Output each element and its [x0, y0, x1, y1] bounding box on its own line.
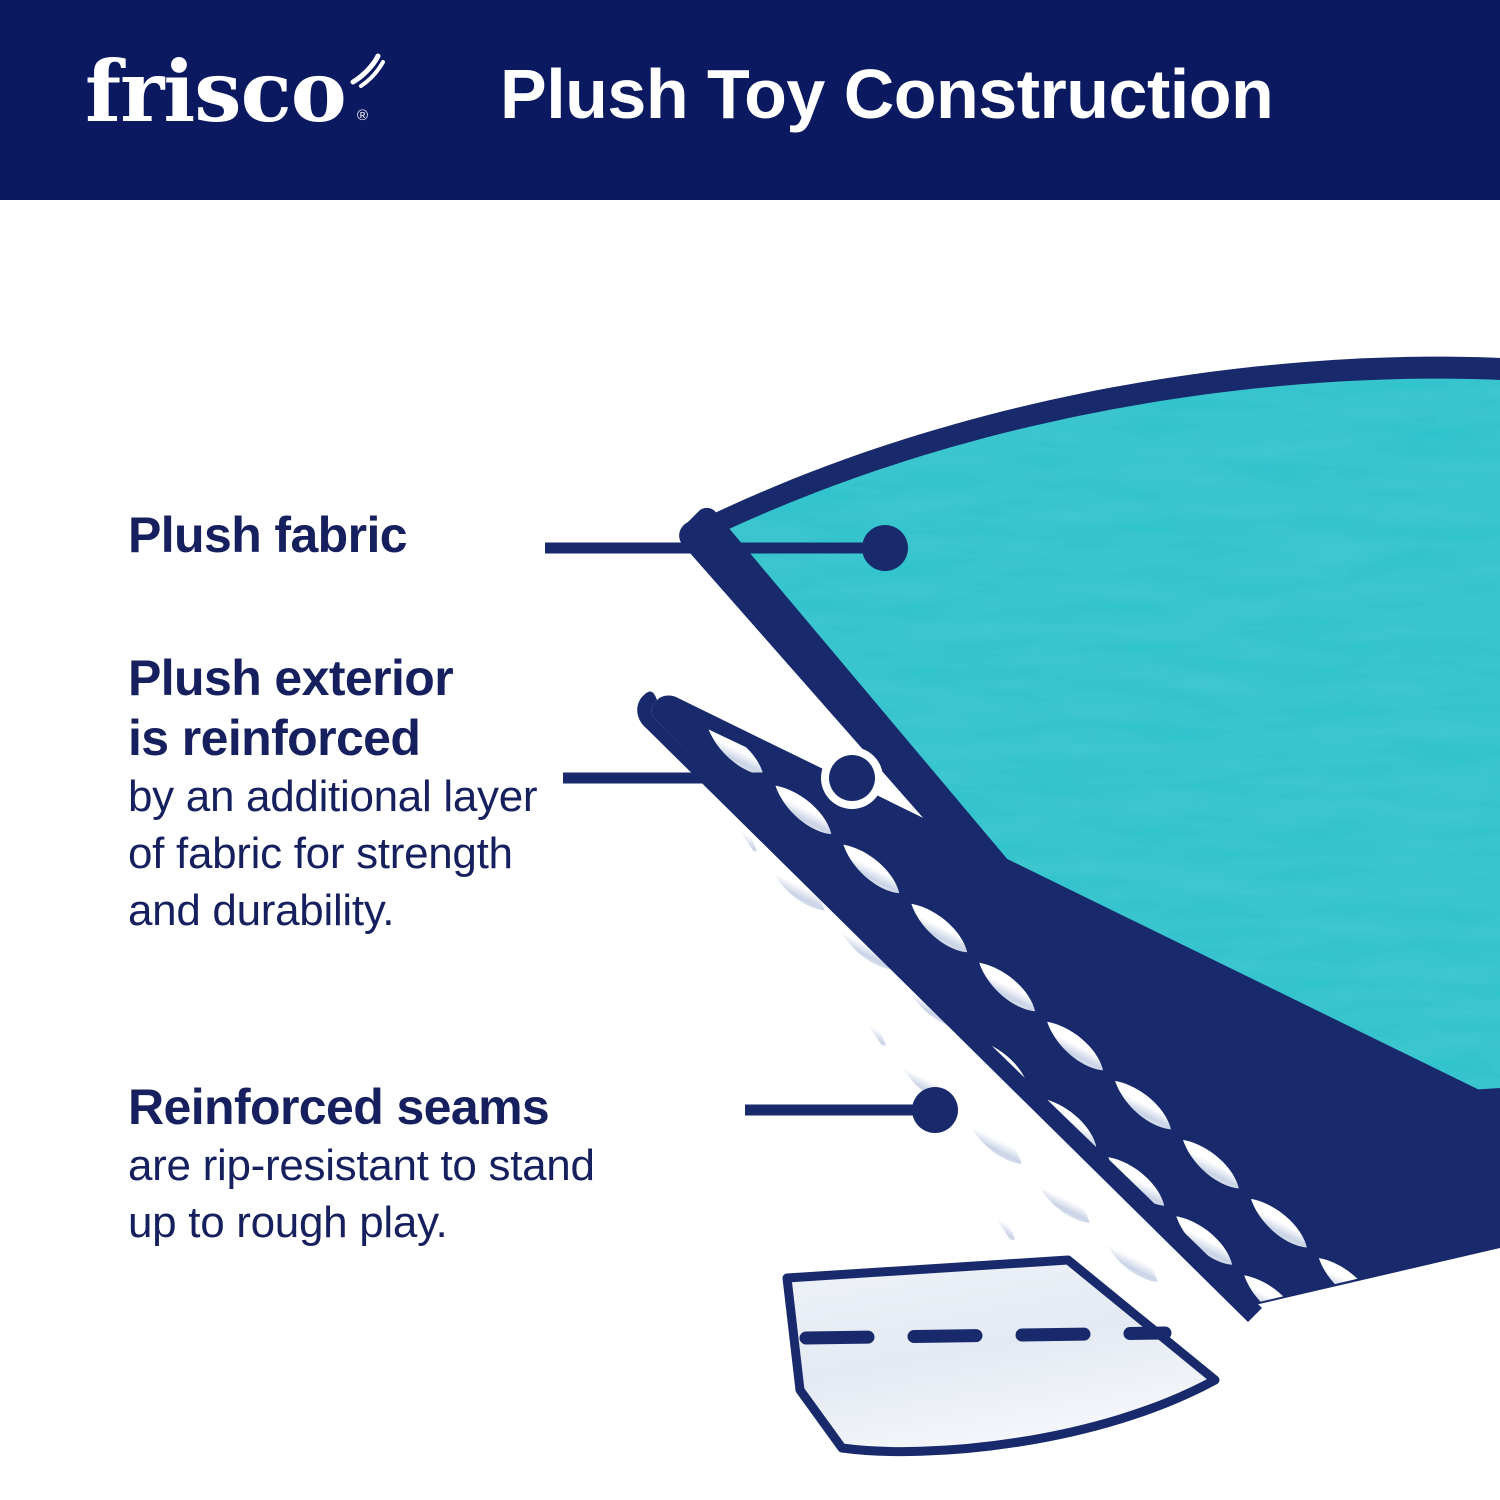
leader-dot-reinforced-seams	[912, 1087, 958, 1133]
logo-swash-icon	[347, 52, 387, 92]
leader-dot-plush-exterior	[829, 755, 875, 801]
callout-reinforced-seams-body: are rip-resistant to stand up to rough p…	[128, 1137, 808, 1251]
reinforced-seam-flap	[787, 1260, 1215, 1452]
callout-plush-exterior-heading: Plush exterior is reinforced	[128, 648, 728, 768]
leader-dot-plush-fabric	[862, 525, 908, 571]
callout-plush-fabric-heading: Plush fabric	[128, 505, 598, 565]
callout-plush-exterior-body: by an additional layer of fabric for str…	[128, 768, 728, 939]
frisco-logo: frisco ®	[85, 44, 346, 140]
callout-reinforced-seams-heading: Reinforced seams	[128, 1077, 808, 1137]
header-bar: frisco ® Plush Toy Construction	[0, 0, 1500, 200]
registered-mark: ®	[357, 108, 368, 123]
callout-plush-fabric: Plush fabric	[128, 505, 598, 565]
infographic-page: frisco ® Plush Toy Construction	[0, 0, 1500, 1500]
callout-plush-exterior: Plush exterior is reinforced by an addit…	[128, 648, 728, 939]
callout-reinforced-seams: Reinforced seams are rip-resistant to st…	[128, 1077, 808, 1251]
page-title: Plush Toy Construction	[500, 48, 1400, 140]
brand-wordmark: frisco	[85, 44, 346, 140]
